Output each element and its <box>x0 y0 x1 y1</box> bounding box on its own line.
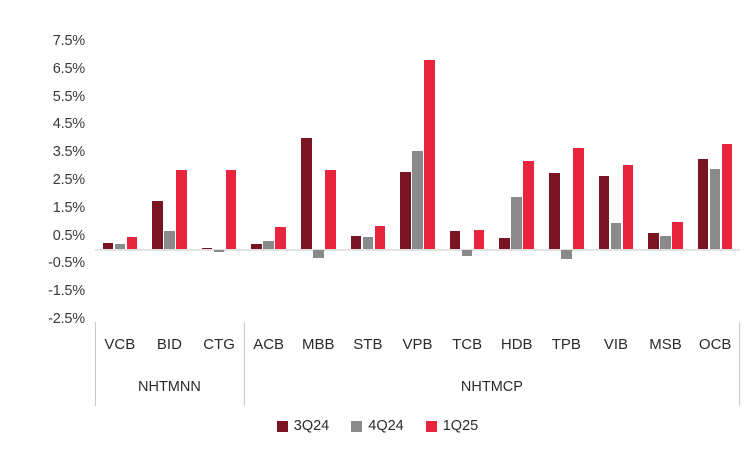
y-axis-tick-label: 1.5% <box>53 200 85 216</box>
bar-group <box>648 41 683 319</box>
y-axis-tick-label: 2.5% <box>53 172 85 188</box>
bar-bid-4q24 <box>164 231 175 249</box>
bar-vpb-1q25 <box>424 60 435 249</box>
category-label-ctg: CTG <box>203 336 235 353</box>
category-label-acb: ACB <box>253 336 284 353</box>
y-axis: 7.5%6.5%5.5%4.5%3.5%2.5%1.5%0.5%-0.5%-1.… <box>0 0 95 468</box>
y-axis-tick-label: 5.5% <box>53 89 85 105</box>
legend-swatch-icon <box>277 421 288 432</box>
bar-mbb-3q24 <box>301 138 312 249</box>
y-axis-tick-label: -0.5% <box>48 255 85 271</box>
bar-vib-3q24 <box>599 176 610 250</box>
bar-ocb-4q24 <box>710 169 721 250</box>
bar-group <box>202 41 237 319</box>
bar-vcb-3q24 <box>103 243 114 250</box>
category-label-vib: VIB <box>604 336 628 353</box>
plot-area <box>95 41 740 319</box>
bar-acb-3q24 <box>251 244 262 250</box>
bar-bid-1q25 <box>176 170 187 249</box>
bar-msb-1q25 <box>672 222 683 250</box>
bar-ctg-4q24 <box>214 250 225 253</box>
y-axis-tick-label: 3.5% <box>53 144 85 160</box>
bar-group <box>698 41 733 319</box>
bar-stb-1q25 <box>375 226 386 250</box>
bar-tcb-3q24 <box>450 231 461 249</box>
bar-acb-1q25 <box>275 227 286 249</box>
group-label-nhtmcp: NHTMCP <box>461 379 523 395</box>
y-axis-tick-label: 4.5% <box>53 116 85 132</box>
bar-stb-3q24 <box>351 236 362 250</box>
bar-hdb-4q24 <box>511 197 522 250</box>
category-label-hdb: HDB <box>501 336 533 353</box>
bar-acb-4q24 <box>263 241 274 249</box>
legend-swatch-icon <box>351 421 362 432</box>
bar-msb-3q24 <box>648 233 659 250</box>
bar-stb-4q24 <box>363 237 374 250</box>
bar-group <box>351 41 386 319</box>
category-label-ocb: OCB <box>699 336 732 353</box>
bar-tpb-3q24 <box>549 173 560 249</box>
bar-ocb-1q25 <box>722 144 733 250</box>
bar-hdb-3q24 <box>499 238 510 249</box>
bar-tpb-4q24 <box>561 250 572 260</box>
category-label-tpb: TPB <box>552 336 581 353</box>
axis-separator <box>739 322 740 406</box>
bar-group <box>599 41 634 319</box>
bar-vib-1q25 <box>623 165 634 250</box>
category-label-tcb: TCB <box>452 336 482 353</box>
legend-label: 4Q24 <box>368 418 403 434</box>
bar-mbb-4q24 <box>313 250 324 258</box>
axis-separator <box>244 322 245 406</box>
legend-label: 3Q24 <box>294 418 329 434</box>
legend-item-4q24[interactable]: 4Q24 <box>351 418 403 434</box>
bar-vpb-3q24 <box>400 172 411 250</box>
category-label-stb: STB <box>353 336 382 353</box>
category-label-mbb: MBB <box>302 336 335 353</box>
bar-tcb-1q25 <box>474 230 485 249</box>
bar-tcb-4q24 <box>462 250 473 257</box>
category-label-bid: BID <box>157 336 182 353</box>
legend-swatch-icon <box>426 421 437 432</box>
bar-group <box>450 41 485 319</box>
bar-mbb-1q25 <box>325 170 336 249</box>
legend-label: 1Q25 <box>443 418 478 434</box>
bar-ctg-1q25 <box>226 170 237 249</box>
y-axis-tick-label: 0.5% <box>53 228 85 244</box>
category-label-vpb: VPB <box>402 336 432 353</box>
axis-separator <box>95 322 96 406</box>
bar-vpb-4q24 <box>412 151 423 250</box>
group-label-nhtmnn: NHTMNN <box>138 379 201 395</box>
bar-chart: 7.5%6.5%5.5%4.5%3.5%2.5%1.5%0.5%-0.5%-1.… <box>0 0 755 468</box>
category-label-vcb: VCB <box>104 336 135 353</box>
bar-vib-4q24 <box>611 223 622 249</box>
bar-vcb-4q24 <box>115 244 126 250</box>
bar-hdb-1q25 <box>523 161 534 250</box>
y-axis-tick-label: -1.5% <box>48 283 85 299</box>
category-label-msb: MSB <box>649 336 682 353</box>
category-axis: VCBBIDCTGACBMBBSTBVPBTCBHDBTPBVIBMSBOCBN… <box>95 322 740 406</box>
bar-bid-3q24 <box>152 201 163 250</box>
legend-item-3q24[interactable]: 3Q24 <box>277 418 329 434</box>
bar-msb-4q24 <box>660 236 671 250</box>
bar-group <box>251 41 286 319</box>
y-axis-tick-label: 7.5% <box>53 33 85 49</box>
bar-ocb-3q24 <box>698 159 709 249</box>
bar-group <box>301 41 336 319</box>
bar-group <box>152 41 187 319</box>
y-axis-tick-label: 6.5% <box>53 61 85 77</box>
bar-group <box>400 41 435 319</box>
bar-ctg-3q24 <box>202 248 213 249</box>
bar-group <box>499 41 534 319</box>
legend-item-1q25[interactable]: 1Q25 <box>426 418 478 434</box>
bar-group <box>549 41 584 319</box>
chart-legend: 3Q244Q241Q25 <box>0 418 755 434</box>
bar-vcb-1q25 <box>127 237 138 250</box>
bar-group <box>103 41 138 319</box>
bar-tpb-1q25 <box>573 148 584 249</box>
y-axis-tick-label: -2.5% <box>48 311 85 327</box>
